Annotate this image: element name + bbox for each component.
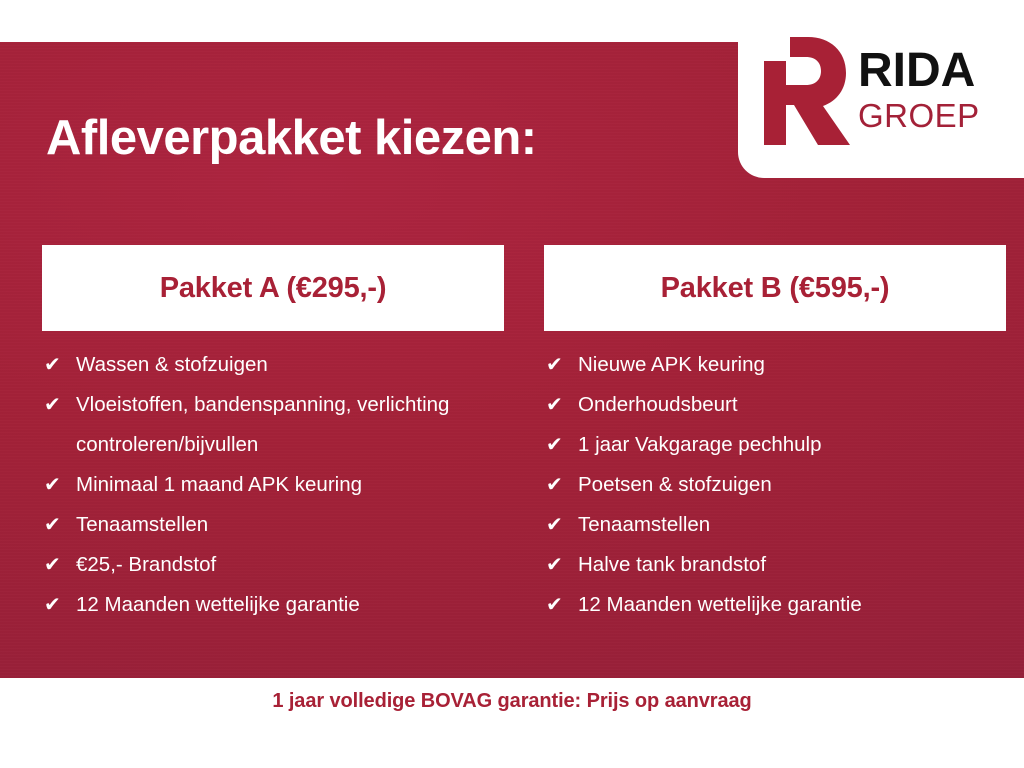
brand-logo-panel: RIDA GROEP bbox=[738, 0, 1024, 178]
list-item: ✔ Vloeistoffen, bandenspanning, verlicht… bbox=[42, 385, 504, 465]
package-title-pakket-a: Pakket A (€295,-) bbox=[160, 272, 387, 305]
list-item: ✔ Halve tank brandstof bbox=[544, 545, 1006, 585]
package-header-pakket-b: Pakket B (€595,-) bbox=[544, 245, 1006, 331]
list-item: ✔ Wassen & stofzuigen bbox=[42, 345, 504, 385]
check-icon: ✔ bbox=[42, 585, 76, 625]
list-item-label: 1 jaar Vakgarage pechhulp bbox=[578, 425, 1006, 465]
footer-bar: 1 jaar volledige BOVAG garantie: Prijs o… bbox=[0, 678, 1024, 768]
list-item-label: Wassen & stofzuigen bbox=[76, 345, 504, 385]
wordmark-groep: GROEP bbox=[858, 99, 980, 132]
list-item-label: Tenaamstellen bbox=[76, 505, 504, 545]
check-icon: ✔ bbox=[42, 545, 76, 585]
list-item: ✔ Poetsen & stofzuigen bbox=[544, 465, 1006, 505]
footer-note: 1 jaar volledige BOVAG garantie: Prijs o… bbox=[0, 690, 1024, 713]
list-item: ✔ 12 Maanden wettelijke garantie bbox=[544, 585, 1006, 625]
slide-afleverpakket: Afleverpakket kiezen: RIDA GROEP Pakket … bbox=[0, 0, 1024, 768]
page-title: Afleverpakket kiezen: bbox=[46, 113, 537, 164]
package-options: Pakket A (€295,-) ✔ Wassen & stofzuigen … bbox=[0, 245, 1024, 625]
list-item: ✔ Minimaal 1 maand APK keuring bbox=[42, 465, 504, 505]
check-icon: ✔ bbox=[544, 345, 578, 385]
list-item: ✔ Onderhoudsbeurt bbox=[544, 385, 1006, 425]
list-item: ✔ Tenaamstellen bbox=[42, 505, 504, 545]
check-icon: ✔ bbox=[544, 465, 578, 505]
package-card-pakket-b[interactable]: Pakket B (€595,-) ✔ Nieuwe APK keuring ✔… bbox=[544, 245, 1006, 625]
package-header-pakket-a: Pakket A (€295,-) bbox=[42, 245, 504, 331]
list-item-label: Poetsen & stofzuigen bbox=[578, 465, 1006, 505]
list-item-label: 12 Maanden wettelijke garantie bbox=[578, 585, 1006, 625]
check-icon: ✔ bbox=[42, 505, 76, 545]
brand-wordmark: RIDA GROEP bbox=[858, 47, 980, 132]
list-item-label: Tenaamstellen bbox=[578, 505, 1006, 545]
list-item: ✔ 12 Maanden wettelijke garantie bbox=[42, 585, 504, 625]
list-item: ✔ Nieuwe APK keuring bbox=[544, 345, 1006, 385]
list-item-label: Minimaal 1 maand APK keuring bbox=[76, 465, 504, 505]
list-item: ✔ €25,- Brandstof bbox=[42, 545, 504, 585]
check-icon: ✔ bbox=[544, 505, 578, 545]
check-icon: ✔ bbox=[544, 585, 578, 625]
list-item-label: Halve tank brandstof bbox=[578, 545, 1006, 585]
package-title-pakket-b: Pakket B (€595,-) bbox=[661, 272, 890, 305]
package-feature-list-pakket-a: ✔ Wassen & stofzuigen ✔ Vloeistoffen, ba… bbox=[42, 331, 504, 625]
list-item: ✔ 1 jaar Vakgarage pechhulp bbox=[544, 425, 1006, 465]
list-item-label: €25,- Brandstof bbox=[76, 545, 504, 585]
check-icon: ✔ bbox=[544, 425, 578, 465]
list-item-label: Nieuwe APK keuring bbox=[578, 345, 1006, 385]
check-icon: ✔ bbox=[42, 385, 76, 425]
list-item-label: Vloeistoffen, bandenspanning, verlichtin… bbox=[76, 385, 504, 465]
list-item-label: 12 Maanden wettelijke garantie bbox=[76, 585, 504, 625]
list-item: ✔ Tenaamstellen bbox=[544, 505, 1006, 545]
check-icon: ✔ bbox=[544, 545, 578, 585]
package-card-pakket-a[interactable]: Pakket A (€295,-) ✔ Wassen & stofzuigen … bbox=[42, 245, 504, 625]
check-icon: ✔ bbox=[544, 385, 578, 425]
list-item-label: Onderhoudsbeurt bbox=[578, 385, 1006, 425]
check-icon: ✔ bbox=[42, 465, 76, 505]
check-icon: ✔ bbox=[42, 345, 76, 385]
package-feature-list-pakket-b: ✔ Nieuwe APK keuring ✔ Onderhoudsbeurt ✔… bbox=[544, 331, 1006, 625]
rida-r-monogram-icon bbox=[756, 35, 852, 147]
wordmark-rida: RIDA bbox=[858, 47, 980, 95]
